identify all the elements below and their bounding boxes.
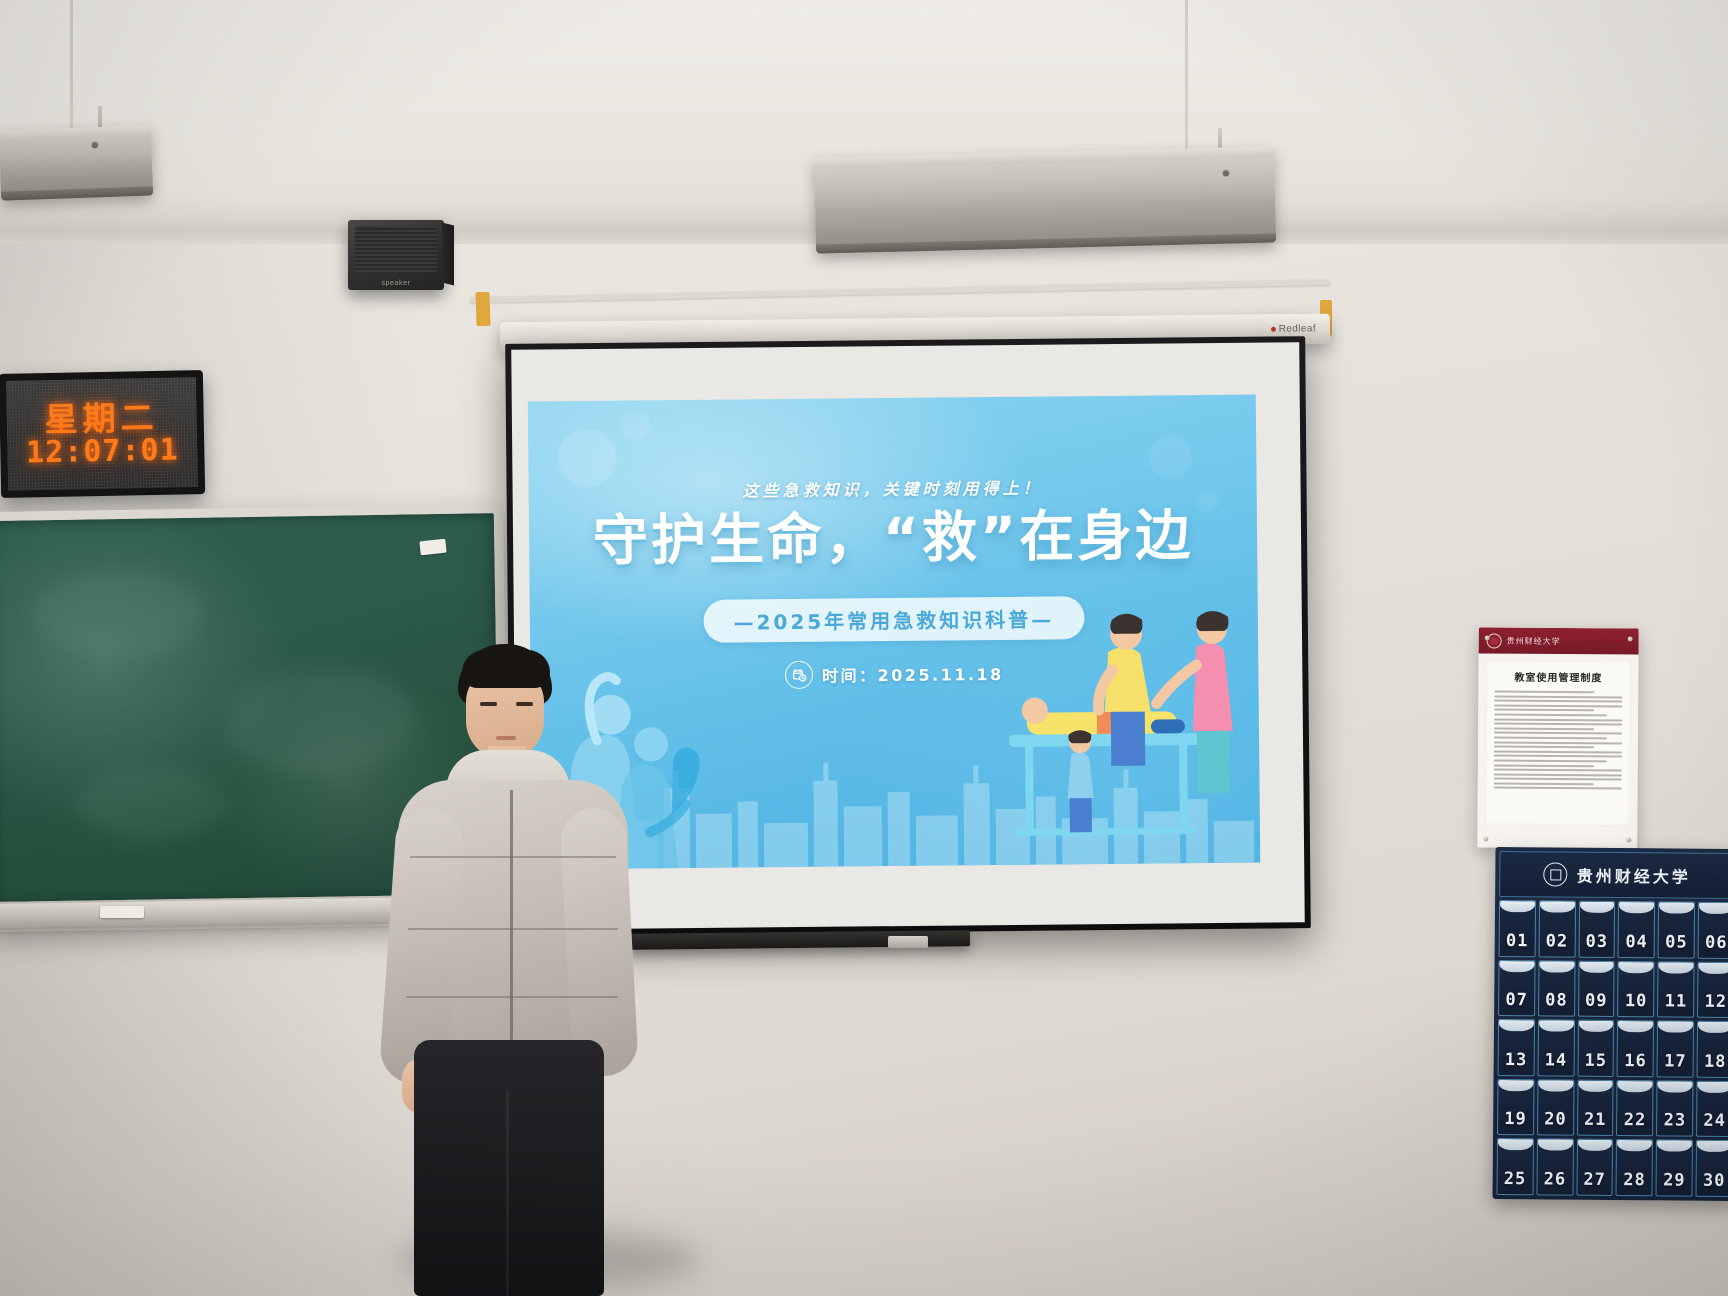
pocket-chart-header: 贵州财经大学 [1499, 851, 1728, 899]
notice-paper: 教室使用管理制度 [1484, 659, 1631, 826]
pocket-chart-row: 131415161718 [1498, 1019, 1728, 1078]
pocket-flap [1499, 1020, 1534, 1031]
pocket-cell[interactable]: 09 [1578, 960, 1615, 1017]
pocket-cell[interactable]: 29 [1656, 1140, 1693, 1197]
pocket-flap [1578, 1080, 1613, 1091]
pocket-cell[interactable]: 15 [1577, 1020, 1614, 1077]
pants-seam [506, 1092, 509, 1296]
pocket-flap [1659, 902, 1694, 913]
pocket-cell[interactable]: 21 [1577, 1079, 1614, 1136]
pocket-number: 28 [1623, 1170, 1646, 1195]
notice-body-line [1494, 773, 1622, 776]
wall-speaker: speaker [348, 220, 444, 290]
slide-title: 守护生命，“救”在身边 [529, 507, 1258, 571]
pocket-flap [1578, 1140, 1613, 1151]
ceiling-light-left [0, 125, 153, 200]
pocket-number: 17 [1664, 1051, 1687, 1076]
pocket-flap [1498, 1139, 1533, 1150]
person-fringe [462, 650, 550, 688]
pocket-cell[interactable]: 14 [1537, 1020, 1574, 1077]
led-screen: 星期二 12:07:01 [6, 377, 198, 491]
person-pants [414, 1040, 604, 1296]
pocket-number: 02 [1546, 931, 1569, 956]
pocket-flap [1617, 1140, 1652, 1151]
pocket-number: 06 [1705, 932, 1728, 957]
notice-body-line [1494, 695, 1622, 698]
notice-body-line [1494, 764, 1594, 767]
person-mouth [496, 736, 516, 740]
slide-subtitle: 这些急救知识，关键时刻用得上！ [529, 473, 1257, 504]
pocket-cell[interactable]: 10 [1618, 961, 1655, 1018]
phone-pocket-chart[interactable]: 贵州财经大学 010203040506070809101112131415161… [1492, 847, 1728, 1201]
pocket-number: 13 [1505, 1050, 1528, 1075]
pocket-flap [1618, 1021, 1653, 1032]
pocket-number: 08 [1545, 991, 1568, 1016]
notice-body-line [1494, 741, 1622, 744]
led-weekday-text: 星期二 [44, 400, 159, 435]
ceiling-light-right [814, 146, 1276, 253]
screen-pull-knob [888, 936, 928, 948]
pocket-cell[interactable]: 08 [1538, 960, 1575, 1017]
jacket-zipper [510, 790, 513, 1070]
conduit-clip [475, 292, 490, 326]
light-screw [1222, 169, 1229, 176]
notice-body-line [1494, 714, 1607, 717]
notice-body-line [1494, 778, 1622, 781]
notice-body-line [1494, 723, 1622, 726]
pocket-flap [1658, 1022, 1693, 1033]
pocket-cell[interactable]: 16 [1617, 1020, 1654, 1077]
classroom-rules-notice: 贵州财经大学 教室使用管理制度 [1477, 627, 1639, 848]
pocket-flap [1540, 901, 1575, 912]
notice-body-line [1494, 746, 1594, 749]
led-wall-clock: 星期二 12:07:01 [0, 370, 205, 498]
notice-title: 教室使用管理制度 [1494, 669, 1622, 685]
led-time-text: 12:07:01 [26, 435, 179, 468]
notice-body-line [1494, 736, 1607, 739]
pocket-cell[interactable]: 05 [1658, 901, 1695, 958]
pocket-number: 10 [1625, 991, 1648, 1016]
pocket-number: 05 [1665, 932, 1688, 957]
pocket-number: 07 [1505, 990, 1528, 1015]
pocket-flap [1539, 961, 1574, 972]
pocket-cell[interactable]: 07 [1498, 960, 1535, 1017]
pocket-number: 19 [1504, 1109, 1527, 1134]
notice-body-line [1494, 759, 1607, 762]
pocket-number: 15 [1584, 1051, 1607, 1076]
slide-pill-badge: —2025年常用急救知识科普— [703, 596, 1084, 643]
calendar-clock-icon [785, 661, 813, 689]
pocket-cell[interactable]: 19 [1497, 1079, 1534, 1136]
notice-body-lines [1494, 691, 1623, 790]
pocket-cell[interactable]: 25 [1497, 1138, 1534, 1195]
notice-body-line [1494, 691, 1594, 694]
pocket-number: 04 [1625, 932, 1648, 957]
notice-screw [1485, 635, 1490, 640]
pocket-flap [1539, 1021, 1574, 1032]
pocket-flap [1659, 962, 1694, 973]
pocket-cell[interactable]: 11 [1657, 961, 1694, 1018]
pocket-number: 03 [1585, 931, 1608, 956]
jacket-seam [408, 928, 618, 930]
pocket-flap [1579, 1021, 1614, 1032]
pocket-number: 23 [1664, 1111, 1687, 1136]
notice-body-line [1494, 787, 1622, 790]
notice-body-line [1494, 704, 1622, 707]
pocket-number: 11 [1665, 992, 1688, 1017]
pocket-flap [1500, 901, 1535, 912]
notice-university-name: 贵州财经大学 [1507, 635, 1561, 646]
speaker-side [442, 223, 454, 286]
pocket-cell[interactable]: 13 [1498, 1019, 1535, 1076]
notice-body-line [1494, 769, 1622, 772]
notice-body-line [1494, 755, 1622, 758]
pocket-cell[interactable]: 01 [1499, 900, 1536, 957]
notice-screw [1626, 837, 1631, 842]
pocket-flap [1499, 961, 1534, 972]
pocket-flap [1579, 961, 1614, 972]
pocket-number: 09 [1585, 991, 1608, 1016]
pocket-cell[interactable]: 03 [1578, 901, 1615, 958]
pocket-flap [1618, 1081, 1653, 1092]
pocket-number: 21 [1584, 1110, 1607, 1135]
pocket-chart-university: 贵州财经大学 [1577, 863, 1691, 888]
screen-brand-label: Redleaf [1271, 323, 1316, 334]
pocket-flap [1657, 1141, 1692, 1152]
pocket-chart-row: 010203040506 [1499, 900, 1728, 959]
jacket-seam [410, 856, 616, 858]
pocket-cell[interactable]: 24 [1696, 1080, 1728, 1137]
notice-body-line [1494, 782, 1594, 785]
pocket-flap [1580, 902, 1615, 913]
pocket-cell[interactable]: 23 [1656, 1080, 1693, 1137]
notice-body-line [1494, 727, 1594, 730]
pocket-number: 18 [1704, 1052, 1727, 1077]
pocket-cell[interactable]: 28 [1616, 1139, 1653, 1196]
pocket-number: 29 [1663, 1170, 1686, 1195]
slide-bokeh [620, 410, 650, 440]
jacket-sleeve-right [559, 806, 639, 1077]
pocket-cell[interactable]: 04 [1618, 901, 1655, 958]
university-emblem-icon [1544, 862, 1568, 886]
slide-date-row: 时间：2025.11.18 [785, 659, 1004, 689]
pocket-number: 24 [1703, 1111, 1726, 1136]
notice-screw [1483, 836, 1488, 841]
pocket-cell[interactable]: 02 [1538, 900, 1575, 957]
person-eye [480, 702, 497, 706]
pocket-flap [1699, 903, 1728, 914]
pocket-cell[interactable]: 18 [1697, 1021, 1728, 1078]
slide-date-text: 时间：2025.11.18 [822, 661, 1004, 687]
pocket-cell[interactable]: 06 [1698, 902, 1728, 959]
pocket-chart-row: 192021222324 [1497, 1079, 1728, 1138]
pocket-number: 22 [1624, 1110, 1647, 1135]
pocket-cell[interactable]: 12 [1697, 961, 1728, 1018]
pocket-cell[interactable]: 17 [1657, 1021, 1694, 1078]
notice-body-line [1494, 709, 1594, 712]
pocket-flap [1699, 962, 1728, 973]
pocket-cell[interactable]: 27 [1576, 1139, 1613, 1196]
speaker-brand-label: speaker [348, 280, 444, 287]
pocket-number: 27 [1583, 1170, 1606, 1195]
eraser [419, 539, 446, 556]
pocket-number: 14 [1545, 1050, 1568, 1075]
chalk-smudge [33, 568, 204, 661]
notice-header: 贵州财经大学 [1479, 627, 1639, 654]
brand-dot-icon [1271, 327, 1276, 332]
chalk-stick [100, 906, 144, 918]
pocket-flap [1538, 1140, 1573, 1151]
classroom-photo-scene: speaker 星期二 12:07:01 Redleaf [0, 0, 1728, 1296]
pocket-chart-row: 252627282930 [1497, 1138, 1728, 1197]
notice-body-line [1494, 750, 1622, 753]
pocket-number: 12 [1704, 992, 1727, 1017]
pocket-flap [1619, 902, 1654, 913]
pocket-number: 20 [1544, 1110, 1567, 1135]
pocket-number: 01 [1506, 931, 1529, 956]
standing-presenter [370, 640, 640, 1296]
notice-body-line [1494, 732, 1622, 735]
notice-body-line [1494, 718, 1622, 721]
notice-screw [1628, 636, 1633, 641]
pocket-number: 25 [1504, 1169, 1527, 1194]
pocket-cell[interactable]: 26 [1536, 1139, 1573, 1196]
pocket-number: 16 [1624, 1051, 1647, 1076]
pocket-cell[interactable]: 20 [1537, 1079, 1574, 1136]
pocket-number: 30 [1703, 1171, 1726, 1196]
pocket-flap [1698, 1022, 1728, 1033]
pocket-flap [1658, 1081, 1693, 1092]
pocket-flap [1498, 1080, 1533, 1091]
chalk-smudge [76, 767, 227, 839]
pocket-flap [1697, 1141, 1728, 1152]
pocket-flap [1619, 962, 1654, 973]
pocket-chart-row: 070809101112 [1498, 960, 1728, 1019]
pocket-cell[interactable]: 22 [1617, 1080, 1654, 1137]
ceiling-seam [1185, 0, 1188, 160]
person-eye [516, 702, 533, 706]
pocket-flap [1538, 1080, 1573, 1091]
notice-body-line [1494, 700, 1622, 703]
pocket-cell[interactable]: 30 [1696, 1140, 1728, 1197]
pocket-number: 26 [1544, 1169, 1567, 1194]
light-screw [91, 141, 98, 148]
pocket-flap [1698, 1081, 1728, 1092]
speaker-grille [355, 226, 437, 272]
